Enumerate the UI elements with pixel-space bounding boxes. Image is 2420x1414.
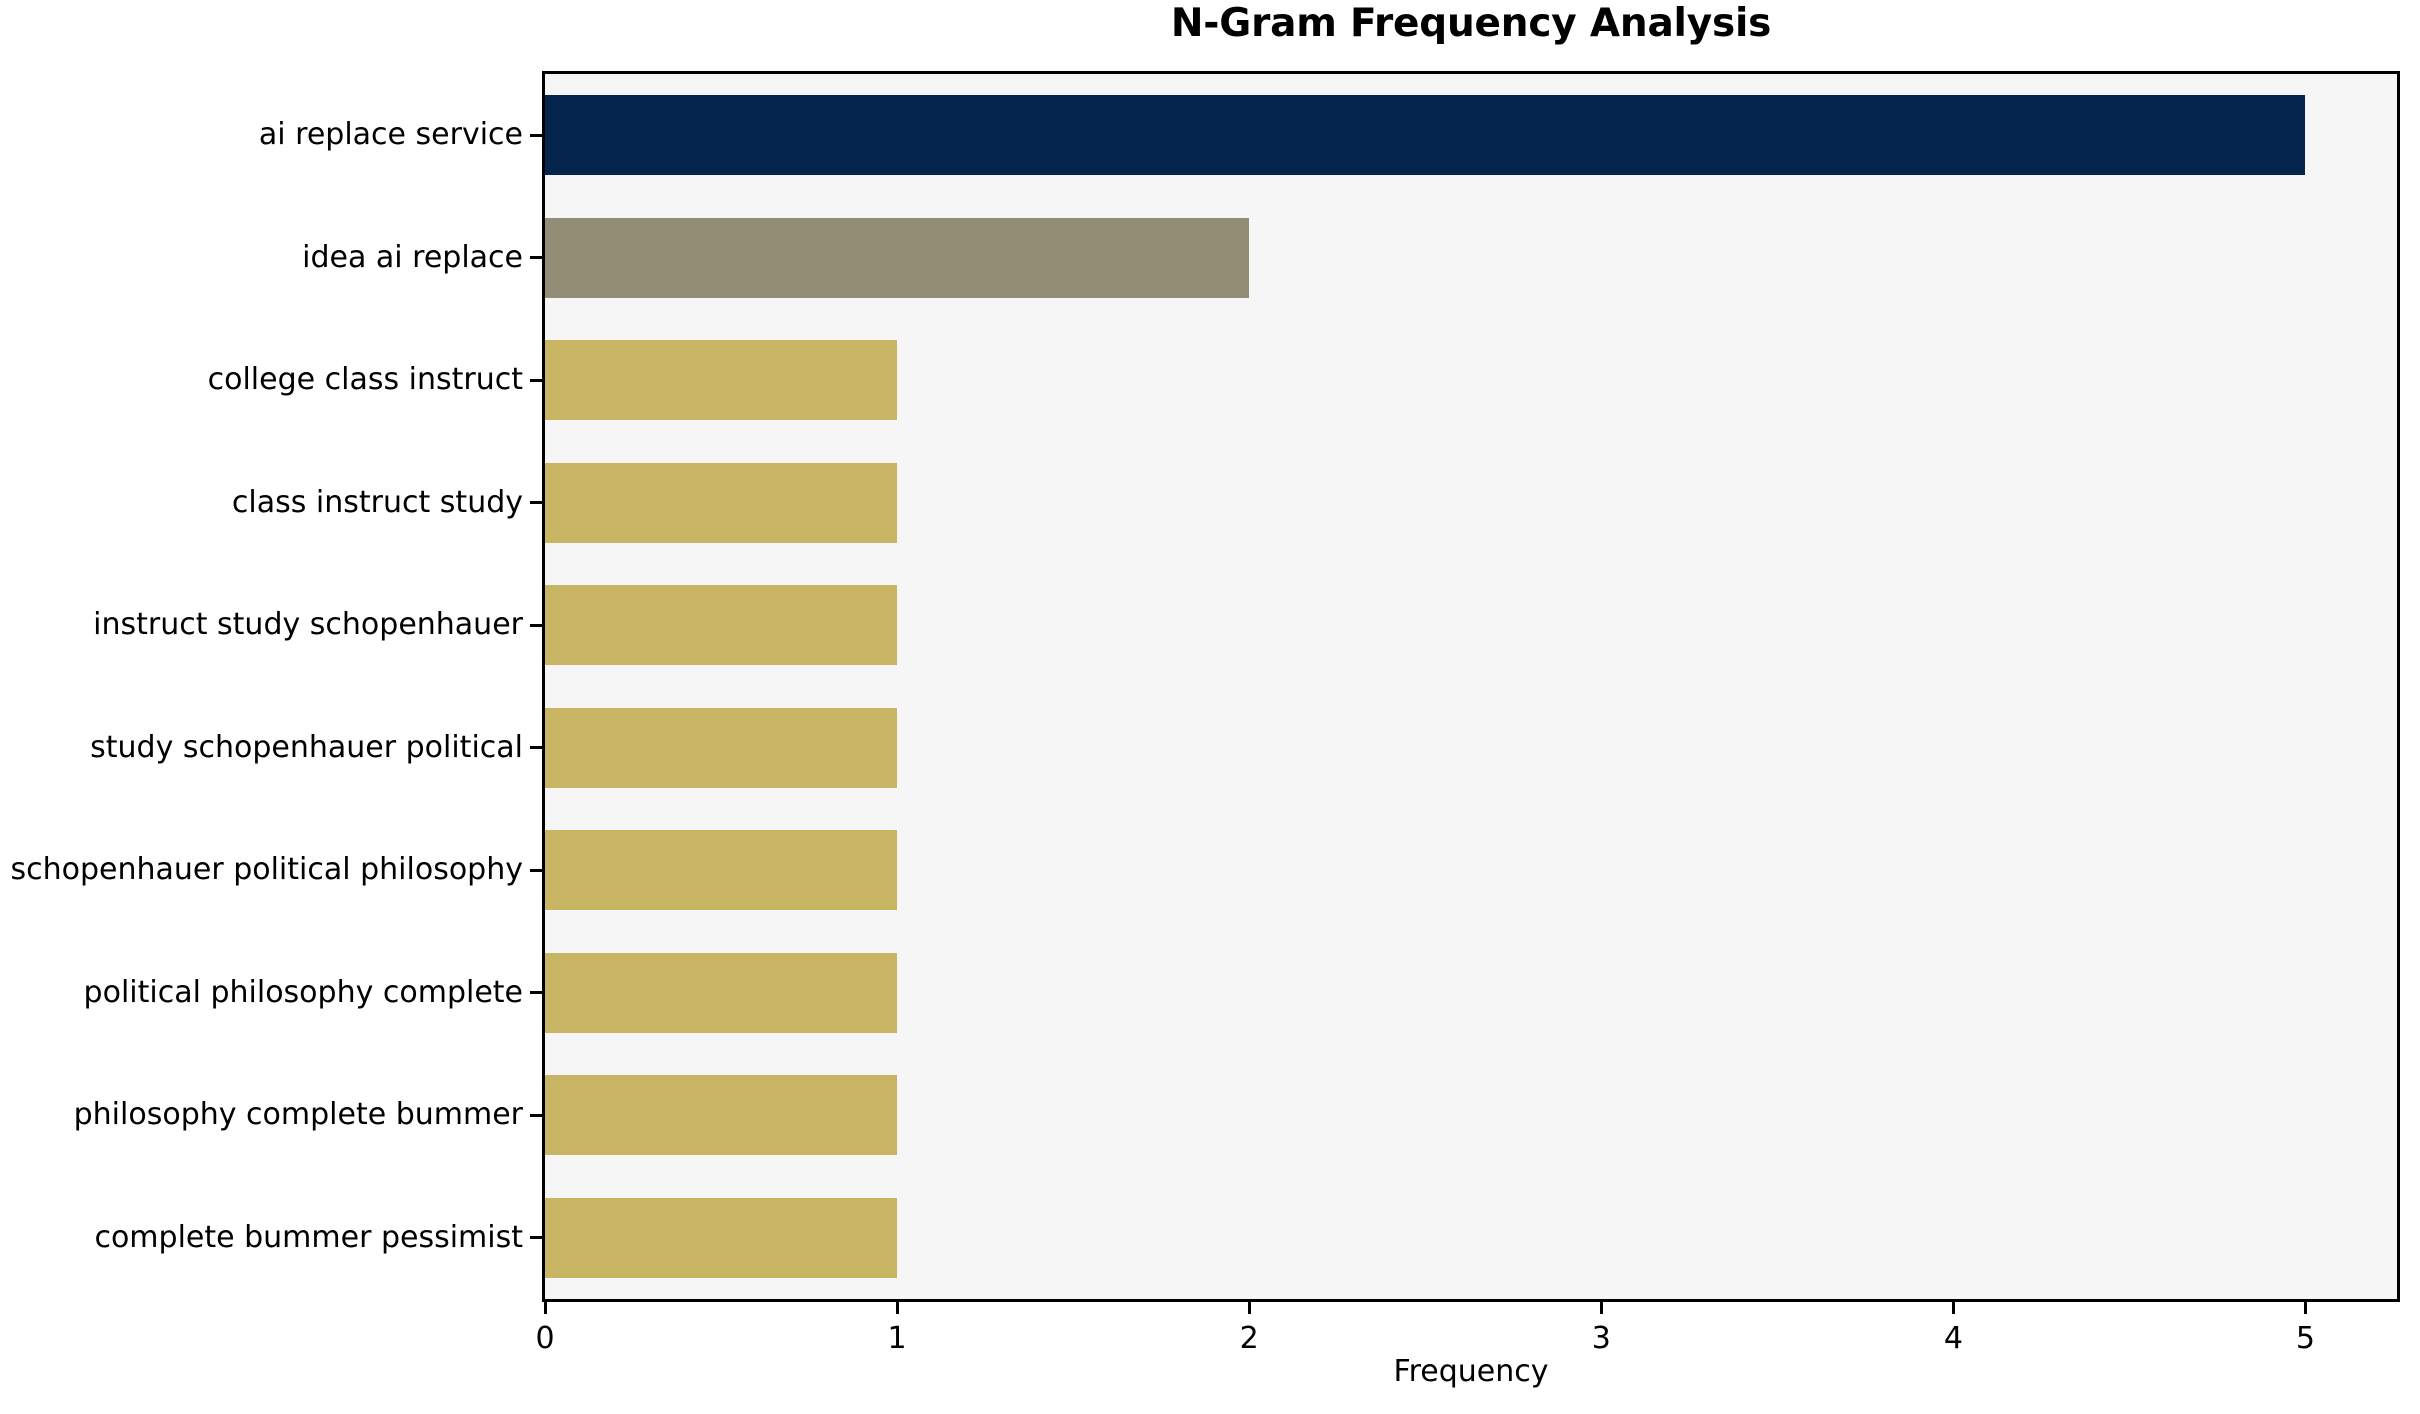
y-axis-tick: complete bummer pessimist xyxy=(94,1216,542,1260)
y-axis-tick-label: idea ai replace xyxy=(302,241,523,275)
y-axis-tick-label: philosophy complete bummer xyxy=(74,1098,523,1132)
x-axis-tick-label: 1 xyxy=(837,1322,957,1356)
chart-title: N-Gram Frequency Analysis xyxy=(542,2,2400,46)
bar xyxy=(545,463,897,543)
chart-figure: N-Gram Frequency Analysis ai replace ser… xyxy=(0,0,2420,1414)
x-axis-tick-label: 5 xyxy=(2245,1322,2365,1356)
x-axis-tick-mark xyxy=(1248,1302,1251,1314)
y-axis-tick-label: complete bummer pessimist xyxy=(94,1221,523,1255)
y-axis-tick-mark xyxy=(530,746,542,749)
y-axis-tick-mark xyxy=(530,1114,542,1117)
y-axis-tick-label: class instruct study xyxy=(232,486,523,520)
y-axis-tick: philosophy complete bummer xyxy=(74,1093,542,1137)
bars-layer xyxy=(545,74,2397,1299)
y-axis-tick-mark xyxy=(530,501,542,504)
y-axis-tick: political philosophy complete xyxy=(84,971,542,1015)
bar xyxy=(545,95,2305,175)
bar xyxy=(545,953,897,1033)
x-axis-tick-label: 2 xyxy=(1189,1322,1309,1356)
x-axis-tick: 5 xyxy=(2245,1302,2365,1356)
bar xyxy=(545,708,897,788)
y-axis-tick-mark xyxy=(530,256,542,259)
y-axis-tick-mark xyxy=(530,1236,542,1239)
y-axis-tick-label: college class instruct xyxy=(208,363,523,397)
x-axis-tick: 1 xyxy=(837,1302,957,1356)
y-axis-tick-mark xyxy=(530,869,542,872)
y-axis-tick-label: ai replace service xyxy=(259,118,523,152)
x-axis-tick-label: 4 xyxy=(1893,1322,2013,1356)
y-axis-tick: instruct study schopenhauer xyxy=(93,603,542,647)
x-axis-tick-mark xyxy=(2304,1302,2307,1314)
y-axis-tick-mark xyxy=(530,379,542,382)
y-axis-tick: class instruct study xyxy=(232,481,542,525)
y-axis-tick-mark xyxy=(530,624,542,627)
x-axis-tick: 2 xyxy=(1189,1302,1309,1356)
x-axis-tick-label: 3 xyxy=(1541,1322,1661,1356)
y-axis-tick-mark xyxy=(530,991,542,994)
y-axis-tick-label: study schopenhauer political xyxy=(90,731,523,765)
y-axis-tick-label: political philosophy complete xyxy=(84,976,523,1010)
x-axis-tick-mark xyxy=(1600,1302,1603,1314)
x-axis-tick-mark xyxy=(896,1302,899,1314)
x-axis-tick-mark xyxy=(1952,1302,1955,1314)
y-axis-tick: schopenhauer political philosophy xyxy=(10,848,542,892)
plot-area xyxy=(542,71,2400,1302)
x-axis-tick: 4 xyxy=(1893,1302,2013,1356)
bar xyxy=(545,1075,897,1155)
x-axis-tick-mark xyxy=(544,1302,547,1314)
bar xyxy=(545,830,897,910)
y-axis-tick: idea ai replace xyxy=(302,236,542,280)
y-axis-tick-label: instruct study schopenhauer xyxy=(93,608,523,642)
y-axis-tick: ai replace service xyxy=(259,113,542,157)
y-axis-tick: college class instruct xyxy=(208,358,542,402)
x-axis-label: Frequency xyxy=(542,1355,2400,1389)
x-axis-tick: 3 xyxy=(1541,1302,1661,1356)
y-axis-tick-label: schopenhauer political philosophy xyxy=(10,853,523,887)
bar xyxy=(545,585,897,665)
x-axis-tick: 0 xyxy=(485,1302,605,1356)
y-axis-tick-mark xyxy=(530,134,542,137)
x-axis-tick-label: 0 xyxy=(485,1322,605,1356)
y-axis-tick: study schopenhauer political xyxy=(90,726,542,770)
y-axis-tick-layer: ai replace serviceidea ai replacecollege… xyxy=(0,71,542,1302)
bar xyxy=(545,1198,897,1278)
bar xyxy=(545,340,897,420)
bar xyxy=(545,218,1249,298)
